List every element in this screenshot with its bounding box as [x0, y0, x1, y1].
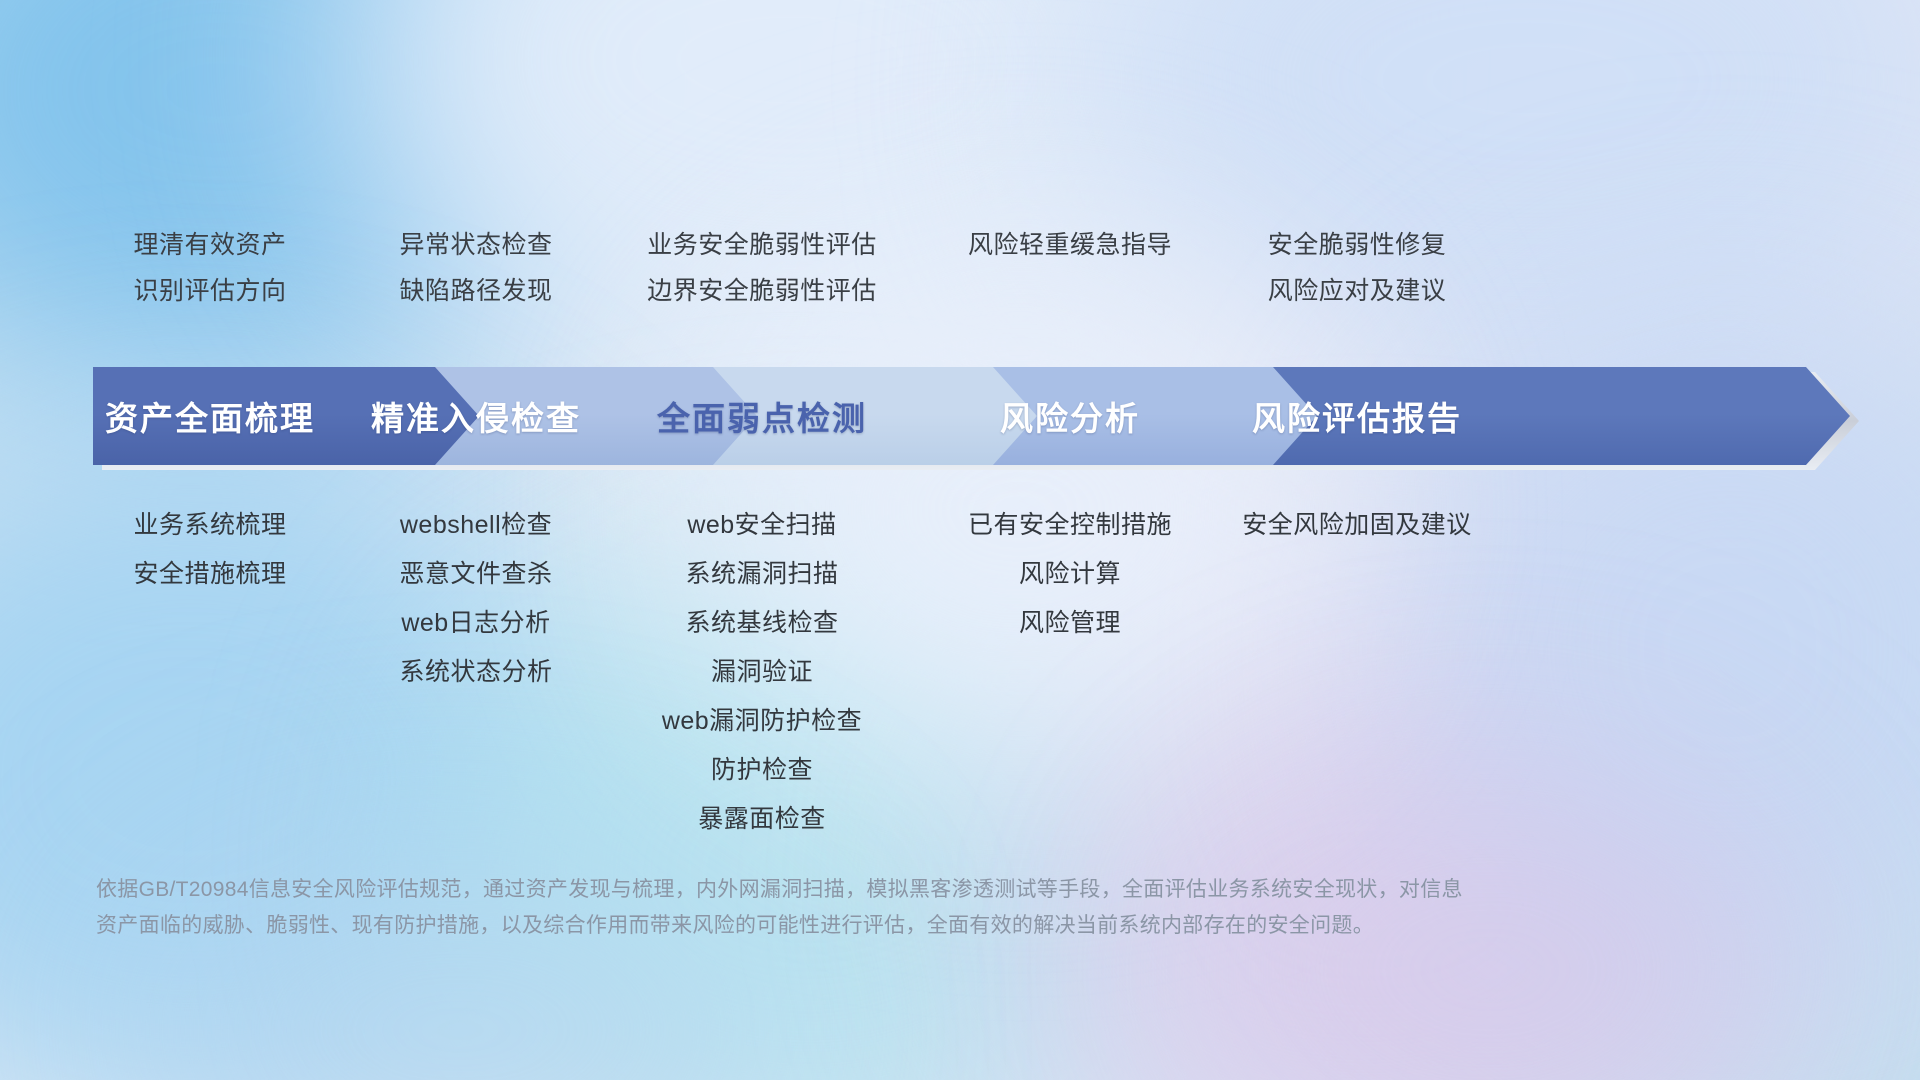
- stage-3-bottom-item-5: web漏洞防护检查: [662, 704, 862, 738]
- stage-3-bottom-item-4: 漏洞验证: [711, 655, 813, 689]
- stage-3-bottom-item-6: 防护检查: [711, 753, 813, 787]
- slide-canvas: 理清有效资产识别评估方向异常状态检查缺陷路径发现业务安全脆弱性评估边界安全脆弱性…: [0, 0, 1920, 1080]
- chevron-label-1: 资产全面梳理: [105, 392, 315, 440]
- chevron-label-3: 全面弱点检测: [657, 392, 867, 440]
- stage-3-bottom-item-1: web安全扫描: [687, 508, 836, 542]
- stage-5-top-item-2: 风险应对及建议: [1268, 274, 1447, 308]
- process-chevron-band: 资产全面梳理精准入侵检查全面弱点检测风险分析风险评估报告: [93, 367, 1850, 465]
- stage-bottom-labels-5: 安全风险加固及建议: [1107, 508, 1607, 542]
- stage-4-bottom-item-3: 风险管理: [1019, 606, 1121, 640]
- chevron-label-2: 精准入侵检查: [371, 392, 581, 440]
- stage-5-bottom-item-1: 安全风险加固及建议: [1242, 508, 1472, 542]
- stage-top-labels-5: 安全脆弱性修复风险应对及建议: [1107, 228, 1607, 308]
- footnote: 依据GB/T20984信息安全风险评估规范，通过资产发现与梳理，内外网漏洞扫描，…: [96, 872, 1656, 944]
- stage-5-top-item-1: 安全脆弱性修复: [1268, 228, 1447, 262]
- stage-3-bottom-item-3: 系统基线检查: [685, 606, 838, 640]
- chevron-label-4: 风险分析: [1000, 392, 1140, 440]
- footnote-line-2: 资产面临的威胁、脆弱性、现有防护措施，以及综合作用而带来风险的可能性进行评估，全…: [96, 908, 1656, 944]
- stage-4-bottom-item-2: 风险计算: [1019, 557, 1121, 591]
- stage-3-top-item-2: 边界安全脆弱性评估: [647, 274, 877, 308]
- stage-3-bottom-item-2: 系统漏洞扫描: [685, 557, 838, 591]
- stage-3-bottom-item-7: 暴露面检查: [698, 802, 826, 836]
- chevron-stage-5[interactable]: 风险评估报告: [1273, 367, 1850, 465]
- footnote-line-1: 依据GB/T20984信息安全风险评估规范，通过资产发现与梳理，内外网漏洞扫描，…: [96, 872, 1656, 908]
- chevron-label-5: 风险评估报告: [1252, 392, 1462, 440]
